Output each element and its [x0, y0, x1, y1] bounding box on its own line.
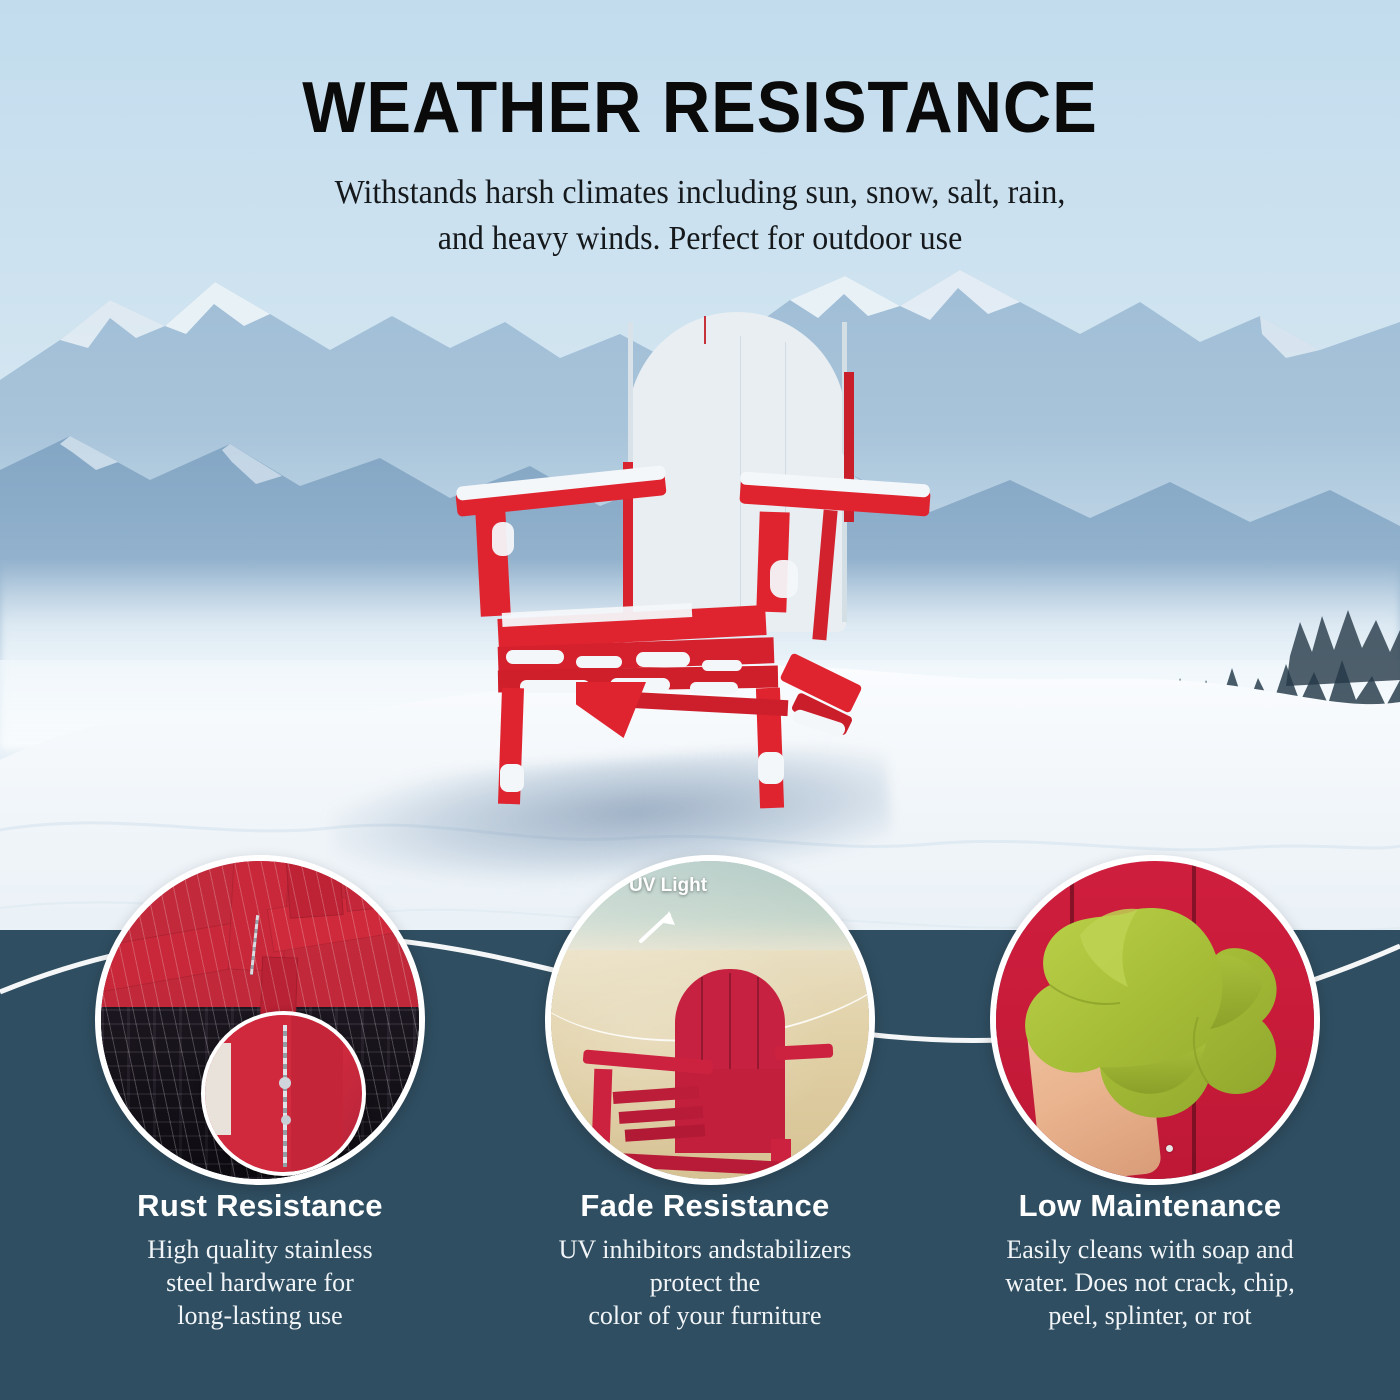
uv-arrow-icon [633, 899, 693, 949]
feature-text-rust-resistance: Rust Resistance High quality stainless s… [60, 1188, 460, 1332]
page-subtitle: Withstands harsh climates including sun,… [42, 170, 1358, 262]
beach-arm-support [592, 1069, 613, 1148]
beach-armrest-right [775, 1043, 834, 1060]
beach-back-slat-2 [729, 973, 731, 1077]
feature-title: Fade Resistance [505, 1188, 905, 1224]
feature-desc-line-1: High quality stainless [60, 1234, 460, 1267]
feature-desc-line-1: Easily cleans with soap and [950, 1234, 1350, 1267]
surface-screw [1166, 1145, 1173, 1152]
feature-image-fade-resistance: UV Light [545, 855, 875, 1185]
feature-desc-line-1: UV inhibitors andstabilizers [505, 1234, 905, 1267]
feature-desc-line-2: steel hardware for [60, 1267, 460, 1300]
microfiber-cloth [1010, 903, 1300, 1133]
inset-chain-link-2 [281, 1115, 291, 1125]
inset-chain-link [279, 1077, 291, 1089]
header-block: WEATHER RESISTANCE Withstands harsh clim… [0, 0, 1400, 262]
feature-desc-line-3: long-lasting use [60, 1300, 460, 1333]
subtitle-line-2: and heavy winds. Perfect for outdoor use [42, 216, 1358, 262]
infographic-canvas: WEATHER RESISTANCE Withstands harsh clim… [0, 0, 1400, 1400]
inset-plank-left [223, 1015, 285, 1176]
beach-stretcher [607, 1153, 779, 1176]
feature-description: Easily cleans with soap and water. Does … [950, 1234, 1350, 1332]
rust-detail-inset [201, 1011, 366, 1176]
feature-text-low-maintenance: Low Maintenance Easily cleans with soap … [950, 1188, 1350, 1332]
uv-light-label: UV Light [629, 875, 707, 897]
beach-back-slat-3 [757, 977, 759, 1077]
adirondack-chair-snow [440, 312, 920, 812]
feature-title: Rust Resistance [60, 1188, 460, 1224]
beach-adirondack-chair [579, 969, 829, 1179]
feature-image-rust-resistance [95, 855, 425, 1185]
feature-image-low-maintenance [990, 855, 1320, 1185]
feature-title: Low Maintenance [950, 1188, 1350, 1224]
feature-text-fade-resistance: Fade Resistance UV inhibitors andstabili… [505, 1188, 905, 1332]
inset-chain [283, 1025, 287, 1167]
beach-leg-front [589, 1137, 607, 1181]
inset-light-edge [205, 1043, 231, 1135]
feature-desc-line-2: protect the [505, 1267, 905, 1300]
feature-description: High quality stainless steel hardware fo… [60, 1234, 460, 1332]
subtitle-line-1: Withstands harsh climates including sun,… [42, 170, 1358, 216]
feature-desc-line-2: water. Does not crack, chip, [950, 1267, 1350, 1300]
page-title: WEATHER RESISTANCE [49, 72, 1351, 144]
inset-plank-right [291, 1015, 343, 1176]
feature-desc-line-3: peel, splinter, or rot [950, 1300, 1350, 1333]
feature-description: UV inhibitors andstabilizers protect the… [505, 1234, 905, 1332]
feature-desc-line-3: color of your furniture [505, 1300, 905, 1333]
